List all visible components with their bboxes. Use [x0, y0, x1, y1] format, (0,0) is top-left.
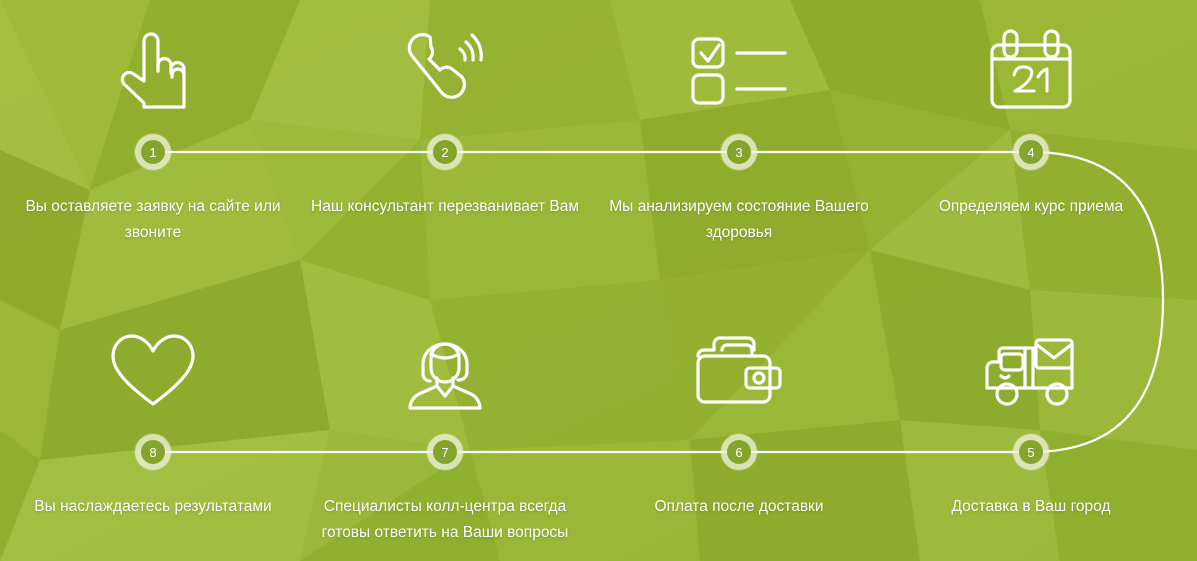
marker-disc: 4: [1019, 140, 1043, 164]
step-caption: Оплата после доставки: [594, 494, 884, 520]
step-marker-1[interactable]: 1: [135, 134, 171, 170]
delivery-truck-icon: [886, 320, 1176, 420]
step-number: 8: [149, 446, 156, 459]
step-caption: Определяем курс приема: [886, 194, 1176, 220]
step-number: 1: [149, 146, 156, 159]
step-marker-8[interactable]: 8: [135, 434, 171, 470]
call-center-operator-icon: [300, 320, 590, 420]
step-number: 4: [1027, 146, 1034, 159]
process-infographic: 1 Вы оставляете заявку на сайте или звон…: [0, 0, 1197, 561]
step-caption: Наш консультант перезванивает Вам: [300, 194, 590, 220]
step-marker-3[interactable]: 3: [721, 134, 757, 170]
step-number: 7: [441, 446, 448, 459]
step-caption: Доставка в Ваш город: [886, 494, 1176, 520]
marker-disc: 1: [141, 140, 165, 164]
step-number: 5: [1027, 446, 1034, 459]
pointing-hand-icon: [8, 20, 298, 120]
step-caption: Вы оставляете заявку на сайте или звонит…: [8, 194, 298, 246]
step-caption: Вы наслаждаетесь результатами: [8, 494, 298, 520]
step-marker-4[interactable]: 4: [1013, 134, 1049, 170]
heart-icon: [8, 320, 298, 420]
step-caption: Специалисты колл-центра всегда готовы от…: [300, 494, 590, 546]
calendar-21-icon: [886, 20, 1176, 120]
step-number: 6: [735, 446, 742, 459]
step-marker-2[interactable]: 2: [427, 134, 463, 170]
step-number: 3: [735, 146, 742, 159]
step-caption: Мы анализируем состояние Вашего здоровья: [594, 194, 884, 246]
marker-disc: 8: [141, 440, 165, 464]
step-marker-7[interactable]: 7: [427, 434, 463, 470]
steps-layer: 1 Вы оставляете заявку на сайте или звон…: [0, 0, 1197, 561]
checklist-icon: [594, 20, 884, 120]
step-marker-5[interactable]: 5: [1013, 434, 1049, 470]
marker-disc: 3: [727, 140, 751, 164]
marker-disc: 5: [1019, 440, 1043, 464]
step-number: 2: [441, 146, 448, 159]
ringing-phone-icon: [300, 20, 590, 120]
marker-disc: 2: [433, 140, 457, 164]
wallet-icon: [594, 320, 884, 420]
marker-disc: 6: [727, 440, 751, 464]
step-marker-6[interactable]: 6: [721, 434, 757, 470]
marker-disc: 7: [433, 440, 457, 464]
